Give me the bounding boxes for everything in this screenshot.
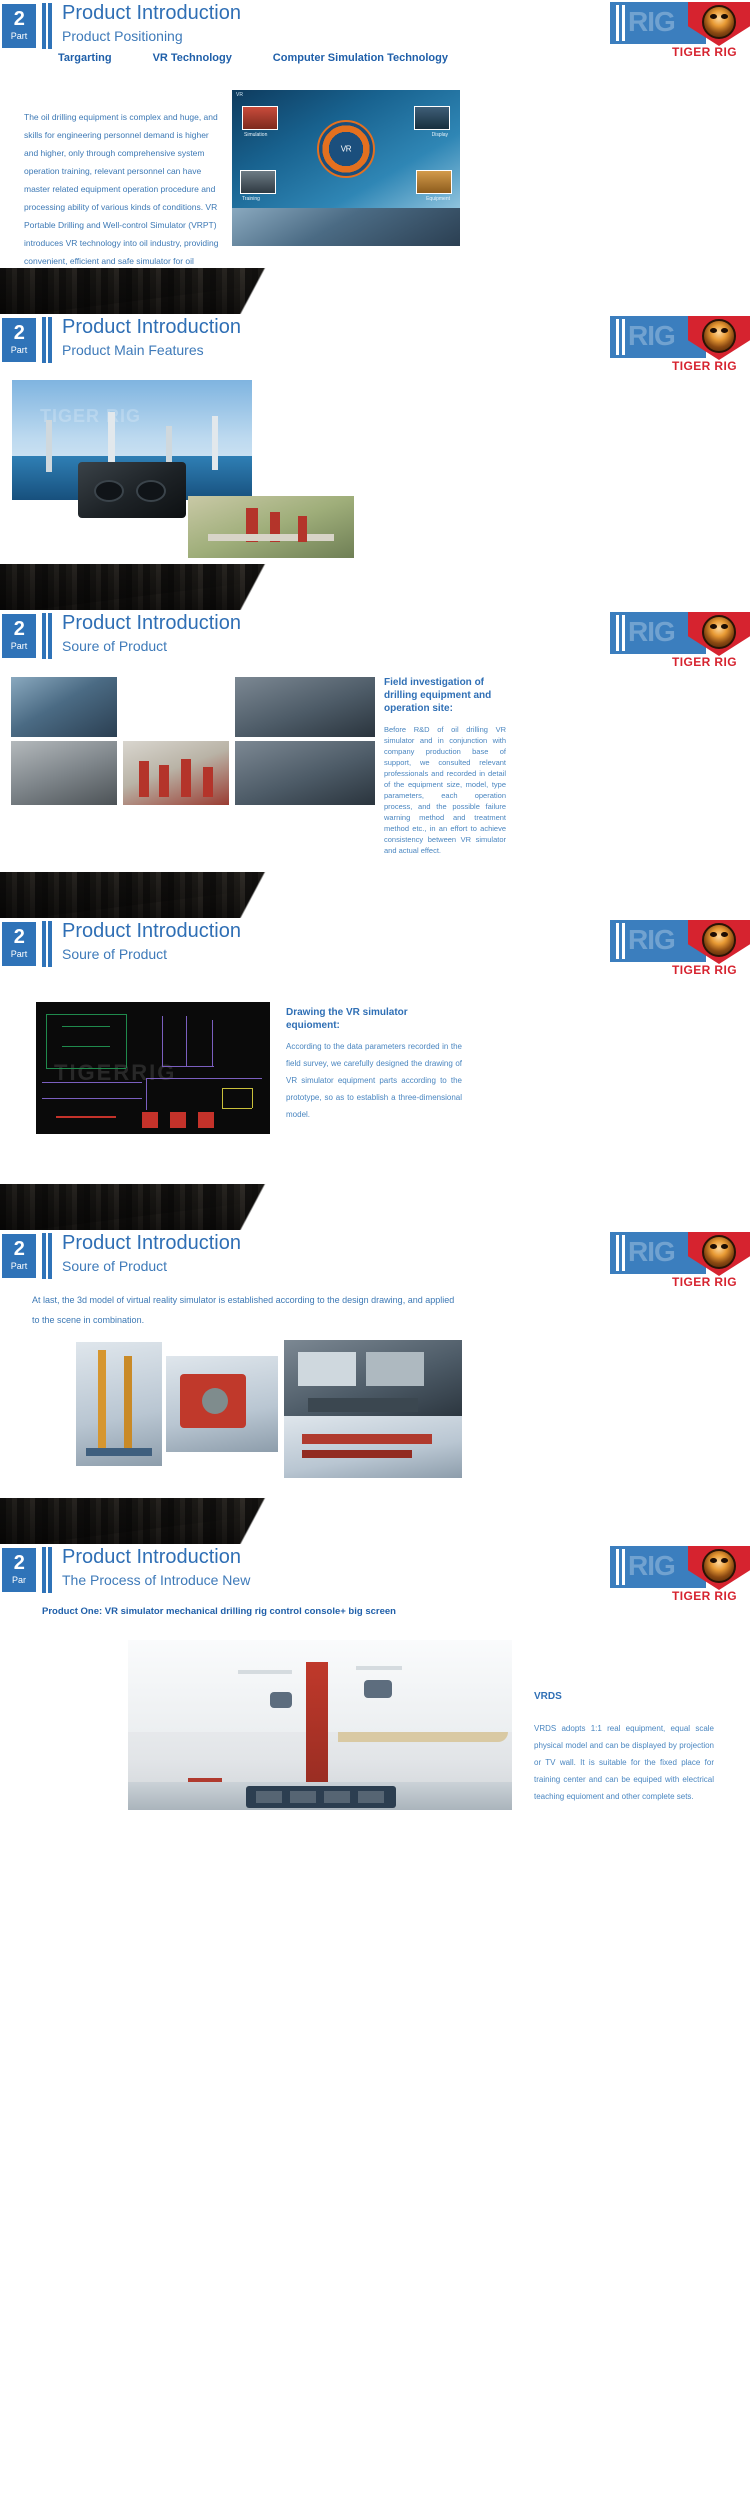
slide-header: 2 Par Product Introduction The Process o… [0,1544,750,1596]
topic-tabs: Targarting VR Technology Computer Simula… [58,52,448,64]
wellhead-valve-photo [188,496,354,558]
header-accent-bars [42,613,54,659]
positioning-paragraph: The oil drilling equipment is complex an… [24,108,220,268]
header-accent-bars [42,317,54,363]
tiger-head-icon [702,923,736,957]
tiger-head-icon [702,319,736,353]
header-titles: Product Introduction Product Positioning [62,0,241,46]
part-badge: 2 Part [2,4,36,48]
part-word: Part [2,1259,36,1271]
model-photo-rig-floor [284,1416,462,1478]
logo-wordmark: TIGER RIG [672,359,737,373]
slide-process-of-introduce-new: 2 Par Product Introduction The Process o… [0,1544,750,1814]
field-investigation-heading: Field investigation of drilling equipmen… [384,676,504,715]
header-titles: Product Introduction Soure of Product [62,610,241,656]
header-accent-bars [42,3,54,49]
tiger-head-icon [702,1235,736,1269]
logo-ghost-text: RIG [628,1236,675,1268]
header-titles: Product Introduction Soure of Product [62,1230,241,1276]
page-title: Product Introduction [62,314,241,340]
header-titles: Product Introduction The Process of Intr… [62,1544,250,1590]
site-photo-6 [234,740,376,806]
slide-divider-2 [0,564,750,610]
diagram-caption: VR [236,92,243,98]
slide-header: 2 Part Product Introduction Soure of Pro… [0,610,750,662]
site-photo-3 [234,676,376,738]
logo-ghost-text: RIG [628,1550,675,1582]
field-investigation-text: Before R&D of oil drilling VR simulator … [384,724,506,856]
page-subtitle: Product Positioning [62,26,241,46]
vrds-text: VRDS adopts 1:1 real equipment, equal sc… [534,1720,714,1805]
part-number: 2 [2,1548,36,1573]
page-title: Product Introduction [62,0,241,26]
slide-header: 2 Part Product Introduction Product Posi… [0,0,750,52]
site-photo-1 [10,676,118,738]
logo-ghost-text: RIG [628,616,675,648]
cad-drawing-image: TIGERRIG [36,1002,270,1134]
logo-wordmark: TIGER RIG [672,963,737,977]
logo-wordmark: TIGER RIG [672,655,737,669]
drawing-heading: Drawing the VR simulator equioment: [286,1006,456,1032]
model-photo-equipment [166,1356,278,1452]
part-number: 2 [2,4,36,29]
diagram-center-node: VR [317,120,375,178]
slide-divider-4 [0,1184,750,1230]
page-subtitle: The Process of Introduce New [62,1570,250,1590]
model-photo-control-cabin [284,1340,462,1420]
diagram-node-label-1: Simulation [244,132,267,138]
part-word: Part [2,639,36,651]
slide-source-of-product-3d: 2 Part Product Introduction Soure of Pro… [0,1230,750,1498]
tiger-head-icon [702,1549,736,1583]
part-badge: 2 Part [2,1234,36,1278]
slide-header: 2 Part Product Introduction Soure of Pro… [0,1230,750,1282]
tiger-head-icon [702,5,736,39]
part-number: 2 [2,922,36,947]
brand-logo: RIG TIGER RIG [610,1232,750,1284]
header-accent-bars [42,1547,54,1593]
page-title: Product Introduction [62,610,241,636]
header-accent-bars [42,1233,54,1279]
diagram-node-2 [414,106,450,130]
product-one-heading: Product One: VR simulator mechanical dri… [42,1606,396,1617]
part-word: Part [2,343,36,355]
vrds-heading: VRDS [534,1690,562,1703]
page-title: Product Introduction [62,1544,250,1570]
diagram-node-3 [240,170,276,194]
part-badge: 2 Part [2,922,36,966]
logo-ghost-text: RIG [628,6,675,38]
header-titles: Product Introduction Soure of Product [62,918,241,964]
vrds-training-hall-photo [128,1640,512,1810]
slide-source-of-product-drawing: 2 Part Product Introduction Soure of Pro… [0,918,750,1184]
part-badge: 2 Part [2,318,36,362]
part-number: 2 [2,1234,36,1259]
model-photo-derrick [76,1342,162,1466]
brand-logo: RIG TIGER RIG [610,1546,750,1598]
logo-wordmark: TIGER RIG [672,1275,737,1289]
site-photo-2 [0,662,2,664]
tab-computer-simulation-technology[interactable]: Computer Simulation Technology [273,52,448,64]
site-photo-5 [122,740,230,806]
part-number: 2 [2,614,36,639]
part-word: Part [2,29,36,41]
diagram-node-1 [242,106,278,130]
vr-headset-photo [78,462,186,518]
slide-header: 2 Part Product Introduction Product Main… [0,314,750,366]
brand-logo: RIG TIGER RIG [610,316,750,368]
vr-system-diagram-image: VR VR Simulation Display Training Equipm… [232,90,460,208]
tab-targarting[interactable]: Targarting [58,52,112,64]
page-subtitle: Soure of Product [62,944,241,964]
slide-source-of-product-field: 2 Part Product Introduction Soure of Pro… [0,610,750,872]
site-photo-4 [10,740,118,806]
tiger-head-icon [702,615,736,649]
part-badge: 2 Part [2,614,36,658]
page-title: Product Introduction [62,918,241,944]
slide-header: 2 Part Product Introduction Soure of Pro… [0,918,750,970]
diagram-center-label: VR [341,145,352,154]
slide-divider-3 [0,872,750,918]
drawing-text: According to the data parameters recorde… [286,1038,462,1123]
slide-divider-1 [0,268,750,314]
header-accent-bars [42,921,54,967]
part-badge: 2 Par [2,1548,36,1592]
logo-ghost-text: RIG [628,924,675,956]
header-titles: Product Introduction Product Main Featur… [62,314,241,360]
page-title: Product Introduction [62,1230,241,1256]
rig-photo-strip [232,208,460,246]
page-subtitle: Product Main Features [62,340,241,360]
diagram-node-label-3: Training [242,196,260,202]
slide-product-positioning: 2 Part Product Introduction Product Posi… [0,0,750,268]
tab-vr-technology[interactable]: VR Technology [153,52,232,64]
logo-wordmark: TIGER RIG [672,45,737,59]
diagram-node-4 [416,170,452,194]
slide-divider-5 [0,1498,750,1544]
part-number: 2 [2,318,36,343]
3d-model-lead-text: At last, the 3d model of virtual reality… [32,1290,462,1330]
part-word: Part [2,947,36,959]
diagram-node-label-4: Equipment [426,196,450,202]
brand-logo: RIG TIGER RIG [610,920,750,972]
diagram-node-label-2: Display [432,132,448,138]
part-word: Par [2,1573,36,1585]
brand-logo: RIG TIGER RIG [610,2,750,54]
logo-wordmark: TIGER RIG [672,1589,737,1603]
page-subtitle: Soure of Product [62,1256,241,1276]
page-subtitle: Soure of Product [62,636,241,656]
slide-main-features: 2 Part Product Introduction Product Main… [0,314,750,564]
logo-ghost-text: RIG [628,320,675,352]
brand-logo: RIG TIGER RIG [610,612,750,664]
